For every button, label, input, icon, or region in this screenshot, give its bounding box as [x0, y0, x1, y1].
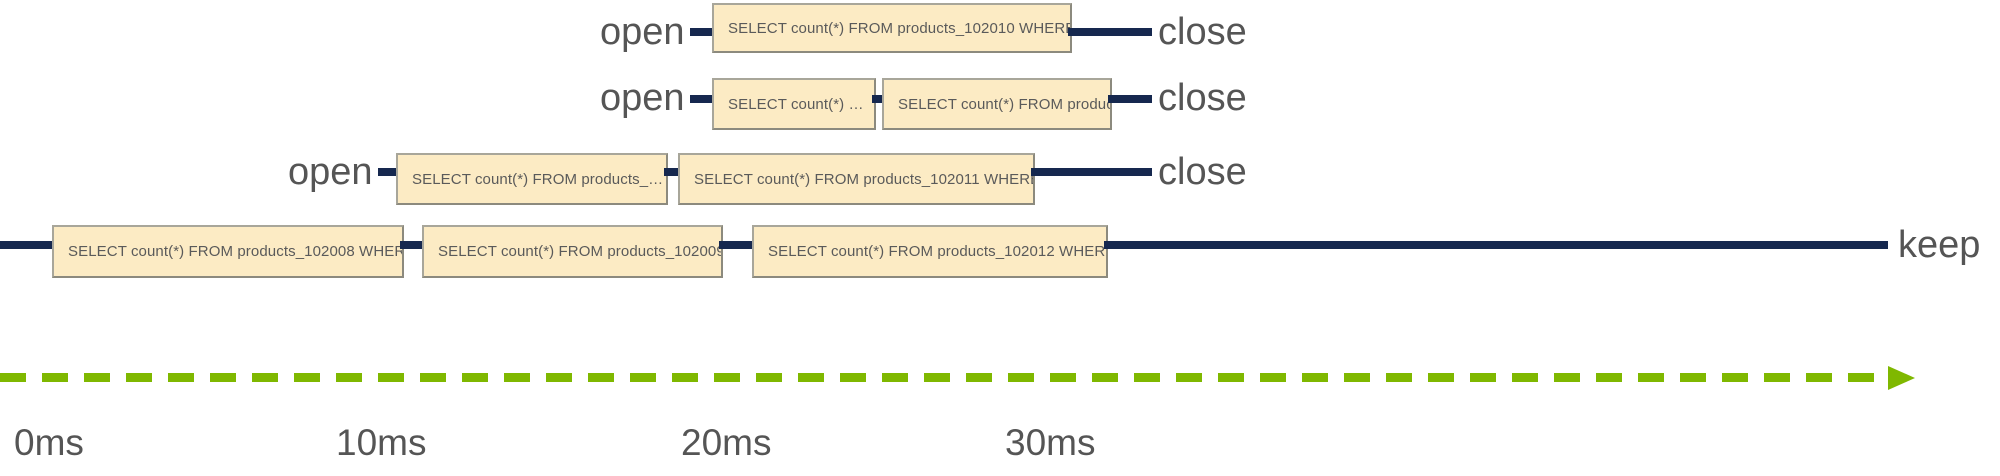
- lane-4-query-3[interactable]: SELECT count(*) FROM products_102012 WHE…: [752, 225, 1108, 278]
- lane-4-line-end: [1104, 241, 1888, 249]
- lane-2-query-1-label: SELECT count(*) …: [714, 97, 864, 112]
- lane-2-open-label: open: [600, 79, 685, 117]
- lane-3-line-right: [1031, 168, 1152, 176]
- time-axis: [0, 362, 2000, 392]
- lane-4-query-2[interactable]: SELECT count(*) FROM products_102009 ..: [422, 225, 723, 278]
- time-axis-dashed-line: [0, 373, 1892, 382]
- lane-4-line-start: [0, 241, 60, 249]
- lane-2-query-2-label: SELECT count(*) FROM produc: [884, 97, 1112, 112]
- lane-3-query-2-label: SELECT count(*) FROM products_102011 WHE…: [680, 172, 1035, 187]
- lane-3-query-2[interactable]: SELECT count(*) FROM products_102011 WHE…: [678, 153, 1035, 205]
- lane-1-close-label: close: [1158, 13, 1247, 51]
- axis-tick-0ms: 0ms: [14, 424, 84, 461]
- lane-4-keep-label: keep: [1898, 226, 1980, 264]
- lane-2-query-1[interactable]: SELECT count(*) …: [712, 78, 876, 130]
- axis-tick-20ms: 20ms: [681, 424, 771, 461]
- axis-tick-10ms: 10ms: [336, 424, 426, 461]
- lane-2-query-2[interactable]: SELECT count(*) FROM produc: [882, 78, 1112, 130]
- lane-2-line-right: [1108, 95, 1152, 103]
- lane-4-query-1[interactable]: SELECT count(*) FROM products_102008 WHE…: [52, 225, 404, 278]
- lane-4-query-2-label: SELECT count(*) FROM products_102009 ..: [424, 244, 723, 259]
- lane-1-open-label: open: [600, 13, 685, 51]
- timeline-diagram: open SELECT count(*) FROM products_10201…: [0, 0, 2000, 476]
- lane-3-open-label: open: [288, 153, 373, 191]
- arrow-right-icon: [1888, 366, 1915, 390]
- lane-2-close-label: close: [1158, 79, 1247, 117]
- lane-1-line-right: [1068, 28, 1152, 36]
- lane-3-query-1-label: SELECT count(*) FROM products_…: [398, 172, 663, 187]
- axis-tick-30ms: 30ms: [1005, 424, 1095, 461]
- lane-3-query-1[interactable]: SELECT count(*) FROM products_…: [396, 153, 668, 205]
- lane-1-query-1-label: SELECT count(*) FROM products_102010 WHE…: [714, 21, 1072, 36]
- lane-3-close-label: close: [1158, 153, 1247, 191]
- lane-4-query-3-label: SELECT count(*) FROM products_102012 WHE…: [754, 244, 1108, 259]
- lane-4-query-1-label: SELECT count(*) FROM products_102008 WHE…: [54, 244, 404, 259]
- lane-1-query-1[interactable]: SELECT count(*) FROM products_102010 WHE…: [712, 3, 1072, 53]
